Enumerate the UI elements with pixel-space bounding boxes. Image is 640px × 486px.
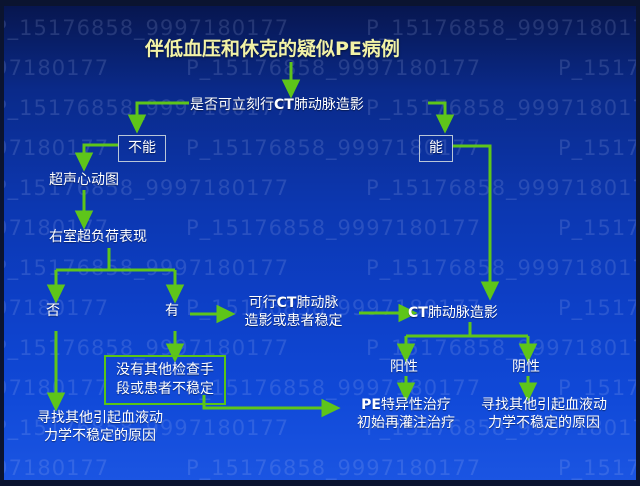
node-rv-no: 否	[46, 302, 60, 320]
node-decision-ct-bold: CT	[274, 97, 294, 113]
screenshot-stage: P_15176858_9997180177P_15176858_99971801…	[0, 0, 640, 486]
node-seek-other-right-line1: 寻找其他引起血液动	[481, 397, 607, 413]
node-seek-other-right: 寻找其他引起血液动 力学不稳定的原因	[459, 396, 629, 432]
node-echocardiogram: 超声心动图	[49, 171, 119, 189]
node-decision-ct-post: 肺动脉造影	[294, 97, 364, 113]
node-rv-yes: 有	[165, 302, 179, 320]
node-ct-angiography: CT肺动脉造影	[408, 304, 498, 322]
node-no-other-means-line1: 没有其他检查手	[116, 362, 214, 378]
node-ct-feasible-line2: 造影或患者稳定	[245, 313, 343, 329]
node-pe-treatment-post: 特异性治疗	[381, 397, 451, 413]
presentation-slide: P_15176858_9997180177P_15176858_99971801…	[4, 6, 636, 480]
node-ct-angiography-post: 肺动脉造影	[428, 305, 498, 321]
node-seek-other-left: 寻找其他引起血液动 力学不稳定的原因	[14, 409, 186, 445]
node-ct-feasible-post: 肺动脉	[296, 295, 338, 311]
node-no-other-means-line2: 段或患者不稳定	[116, 381, 214, 397]
slide-title: 伴低血压和休克的疑似PE病例	[145, 34, 400, 61]
node-no-other-means: 没有其他检查手 段或患者不稳定	[104, 355, 226, 405]
node-pe-treatment-bold: PE	[361, 397, 381, 413]
node-ct-angiography-bold: CT	[408, 305, 428, 321]
node-ct-feasible: 可行CT肺动脉 造影或患者稳定	[226, 294, 361, 330]
flowchart: 伴低血压和休克的疑似PE病例 是否可立刻行CT肺动脉造影 不能 能 超声心动图 …	[4, 6, 636, 480]
node-negative: 阴性	[512, 358, 540, 376]
node-seek-other-left-line1: 寻找其他引起血液动	[37, 410, 163, 426]
node-ct-feasible-pre: 可行	[249, 295, 277, 311]
node-seek-other-right-line2: 力学不稳定的原因	[488, 415, 600, 431]
node-decision-ct: 是否可立刻行CT肺动脉造影	[190, 96, 364, 114]
node-rv-overload: 右室超负荷表现	[49, 228, 147, 246]
node-ct-feasible-bold: CT	[277, 295, 297, 311]
node-seek-other-left-line2: 力学不稳定的原因	[44, 428, 156, 444]
node-branch-yes: 能	[419, 135, 453, 162]
node-decision-ct-pre: 是否可立刻行	[190, 97, 274, 113]
node-branch-no: 不能	[118, 135, 166, 162]
node-pe-treatment-line2: 初始再灌注治疗	[357, 415, 455, 431]
node-positive: 阳性	[390, 358, 418, 376]
